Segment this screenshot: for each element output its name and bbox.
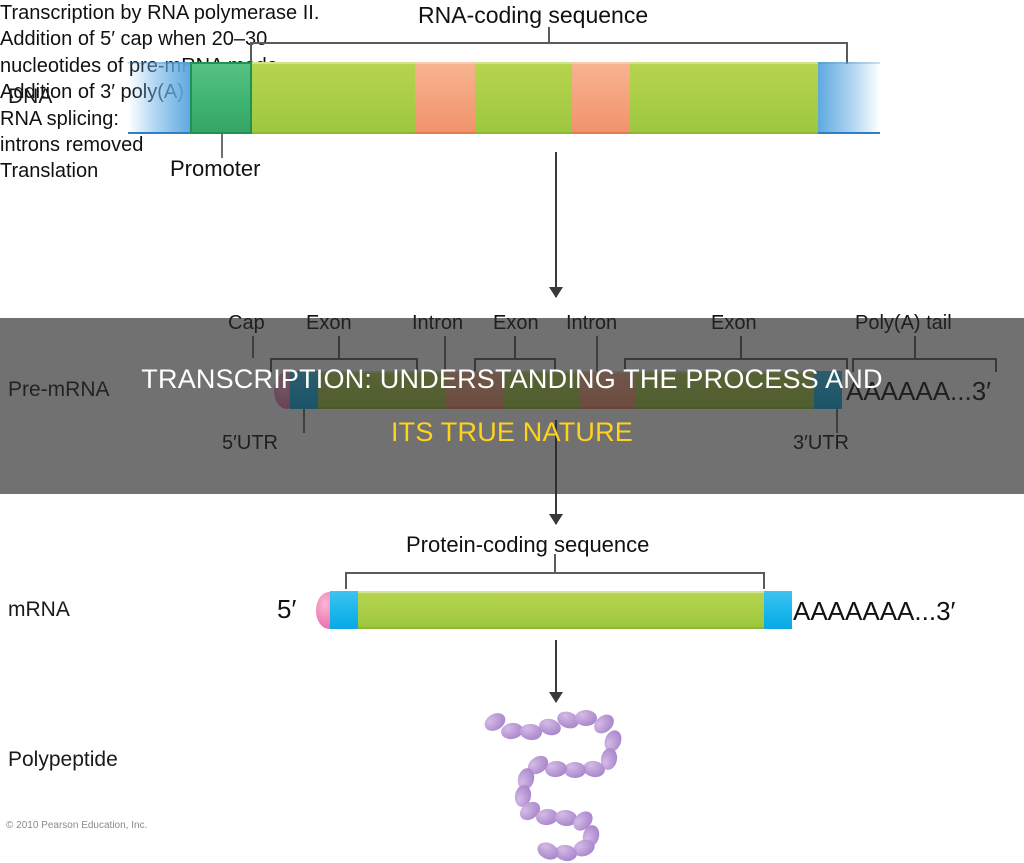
- translation-arrow: [555, 640, 557, 702]
- bracket-bar: [250, 42, 848, 44]
- protein-coding-sequence-bracket: [345, 572, 765, 589]
- protein-coding-sequence-label: Protein-coding sequence: [406, 532, 649, 558]
- dna-segment-exon-1: [252, 62, 415, 134]
- overlay-title-line-2: ITS TRUE NATURE: [391, 419, 633, 446]
- row-label-dna: DNA: [8, 85, 52, 109]
- dna-segment-intron-2: [572, 62, 630, 134]
- copyright-notice: © 2010 Pearson Education, Inc.: [6, 820, 147, 831]
- translation-note: Translation: [0, 158, 1024, 184]
- dna-segment-flank-right: [818, 62, 880, 134]
- mrna-five-prime-label: 5′: [277, 594, 296, 625]
- title-overlay-banner: TRANSCRIPTION: UNDERSTANDING THE PROCESS…: [0, 318, 1024, 494]
- mrna-polya-tail-text: AAAAAAA...3′: [793, 596, 955, 627]
- rna-coding-sequence-label: RNA-coding sequence: [418, 2, 648, 29]
- bracket-bar: [345, 572, 765, 574]
- overlay-title-line-1: TRANSCRIPTION: UNDERSTANDING THE PROCESS…: [141, 366, 882, 393]
- row-label-mrna: mRNA: [8, 598, 70, 622]
- diagram-canvas: RNA-coding sequence DNA Promoter Transcr…: [0, 0, 1024, 841]
- bracket-tick-left: [345, 572, 347, 589]
- dna-segment-promoter: [190, 62, 252, 134]
- dna-segment-flank-left: [128, 62, 190, 134]
- dna-segment-exon-2: [475, 62, 572, 134]
- polypeptide-chain-icon: [470, 700, 650, 820]
- promoter-leader-line: [221, 134, 223, 158]
- dna-segment-intron-1: [415, 62, 475, 134]
- row-label-polypeptide: Polypeptide: [8, 748, 118, 772]
- bracket-stem: [554, 554, 556, 572]
- mrna-segment-coding: [358, 591, 764, 629]
- dna-segment-exon-3: [630, 62, 818, 134]
- mrna-bar: [330, 591, 792, 629]
- promoter-label: Promoter: [170, 156, 260, 182]
- mrna-segment-5utr: [330, 591, 358, 629]
- rna-coding-sequence-bracket: [250, 42, 848, 64]
- dna-bar: [128, 62, 880, 134]
- translation-note-label: Translation: [0, 158, 1024, 184]
- transcription-arrow: [555, 152, 557, 297]
- mrna-segment-3utr: [764, 591, 792, 629]
- bracket-tick-right: [846, 42, 848, 64]
- bracket-tick-right: [763, 572, 765, 589]
- splicing-note-line-2: introns removed: [0, 132, 1024, 158]
- bracket-tick-left: [250, 42, 252, 64]
- bracket-stem: [548, 27, 550, 42]
